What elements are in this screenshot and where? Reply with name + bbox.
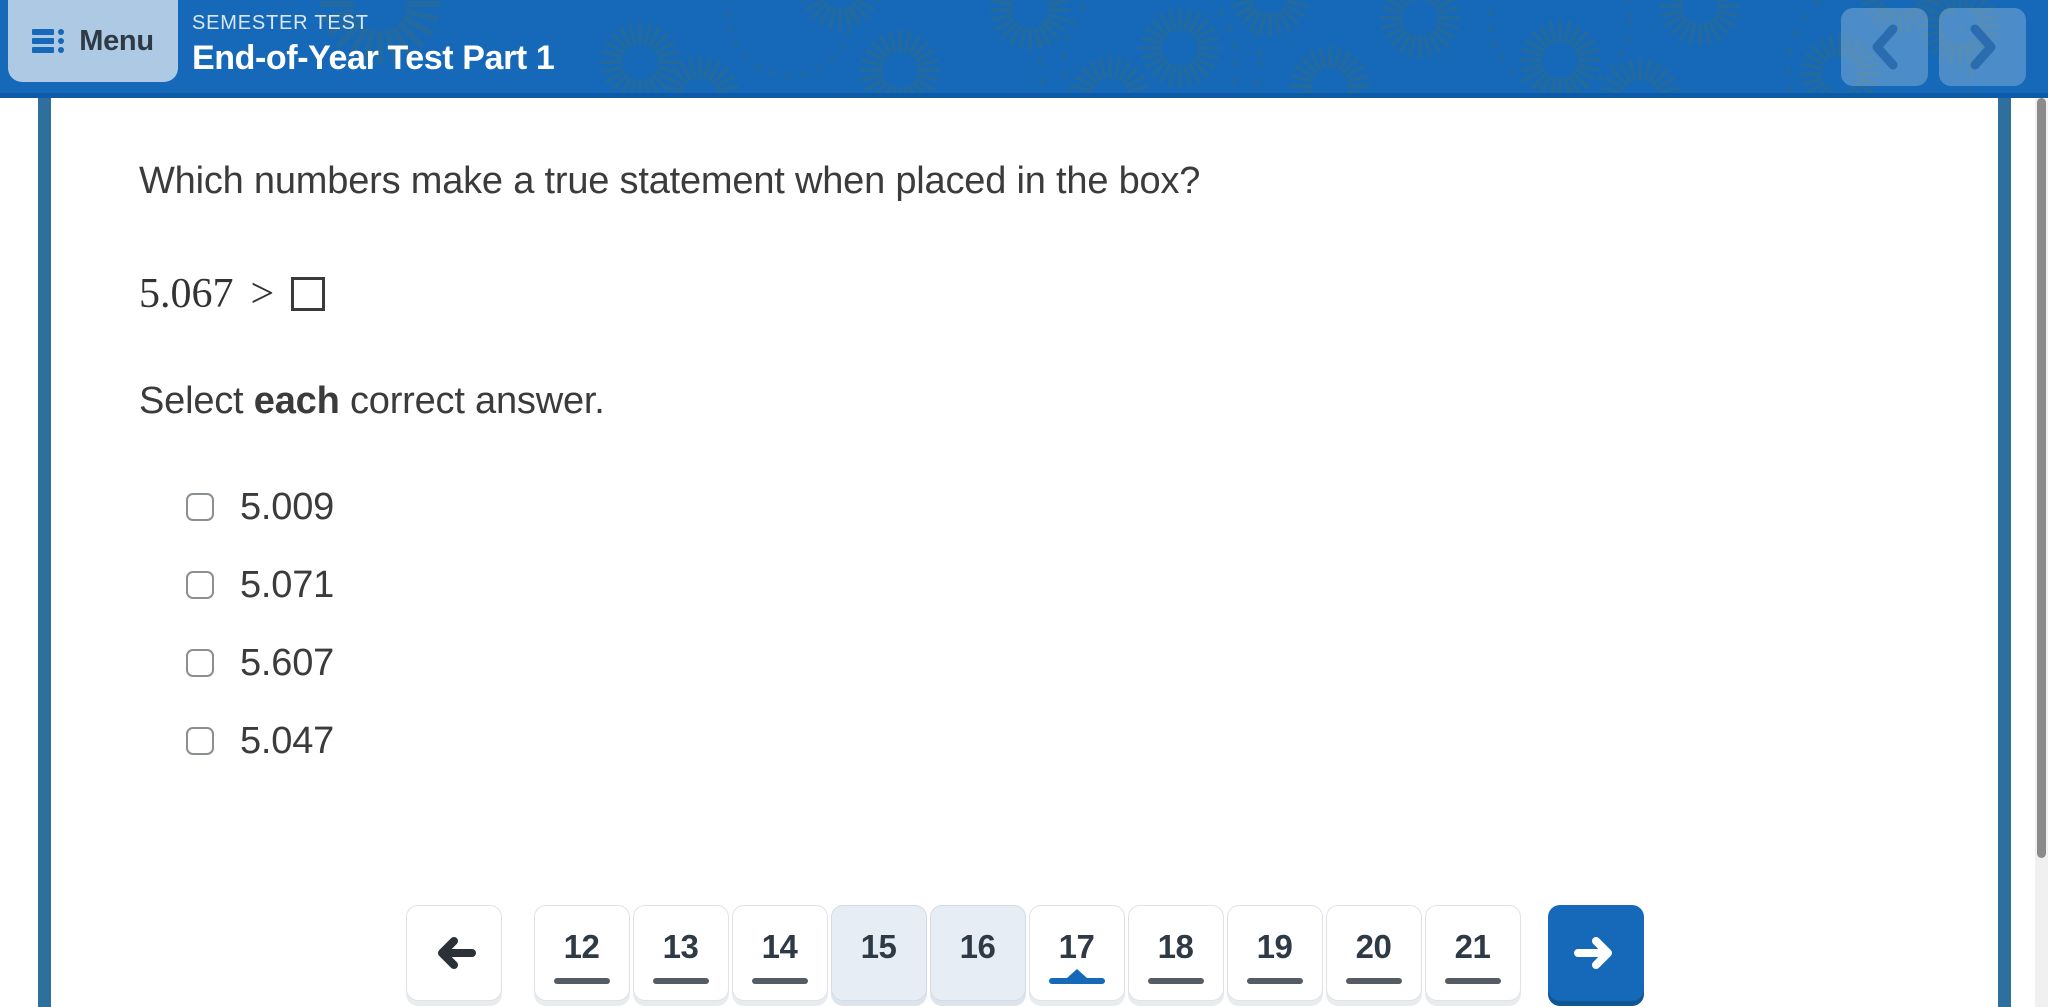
app-header: Menu SEMESTER TEST End-of-Year Test Part… (0, 0, 2048, 98)
answer-option-3[interactable]: 5.607 (139, 624, 1039, 702)
answered-page-indicator (554, 978, 610, 984)
right-edge-strip (1998, 98, 2011, 1007)
answer-option-4[interactable]: 5.047 (139, 702, 1039, 780)
answer-placeholder-box (291, 277, 325, 311)
page-number-list: 12131415161718192021 (534, 905, 1521, 1001)
page-button-label: 18 (1158, 928, 1194, 966)
page-scrollbar[interactable] (2035, 98, 2048, 1007)
pagination-previous-button[interactable] (406, 905, 502, 1001)
math-expression: 5.067 > (139, 270, 325, 318)
answer-option-label: 5.607 (240, 642, 334, 685)
answered-page-indicator (752, 978, 808, 984)
answered-page-indicator (1346, 978, 1402, 984)
chevron-right-icon (1966, 24, 2000, 70)
selection-instruction: Select each correct answer. (139, 380, 605, 423)
test-title-block: SEMESTER TEST End-of-Year Test Part 1 (192, 10, 554, 80)
checkbox-icon[interactable] (186, 493, 214, 521)
pagination-next-button[interactable] (1548, 905, 1644, 1001)
checkbox-icon[interactable] (186, 727, 214, 755)
left-edge-strip (38, 98, 51, 1007)
page-button-label: 21 (1455, 928, 1491, 966)
arrow-right-icon (1574, 933, 1618, 973)
page-button-18[interactable]: 18 (1128, 905, 1224, 1001)
page-button-label: 13 (663, 928, 699, 966)
menu-button-label: Menu (79, 25, 154, 58)
question-content-area: Which numbers make a true statement when… (51, 98, 1998, 1007)
answered-page-indicator (653, 978, 709, 984)
test-title: End-of-Year Test Part 1 (192, 36, 554, 80)
answered-page-indicator (1247, 978, 1303, 984)
answer-option-label: 5.047 (240, 720, 334, 763)
page-button-16[interactable]: 16 (930, 905, 1026, 1001)
arrow-left-icon (432, 933, 476, 973)
chevron-left-icon (1868, 24, 1902, 70)
page-button-label: 14 (762, 928, 798, 966)
header-next-button[interactable] (1939, 8, 2026, 86)
answer-options-list: 5.009 5.071 5.607 5.047 (139, 468, 1039, 780)
page-button-19[interactable]: 19 (1227, 905, 1323, 1001)
page-button-label: 19 (1257, 928, 1293, 966)
current-page-pointer-icon (1067, 969, 1087, 978)
test-category-label: SEMESTER TEST (192, 10, 554, 36)
page-button-13[interactable]: 13 (633, 905, 729, 1001)
instruction-emphasis: each (254, 380, 340, 422)
header-navigation-arrows (1841, 8, 2026, 86)
answered-page-indicator (1445, 978, 1501, 984)
question-pagination-bar: 12131415161718192021 (51, 887, 1998, 1007)
menu-button[interactable]: Menu (8, 0, 178, 82)
expression-left-operand: 5.067 (139, 270, 234, 318)
header-bottom-border (0, 93, 2048, 98)
page-button-17[interactable]: 17 (1029, 905, 1125, 1001)
scrollbar-thumb[interactable] (2037, 98, 2046, 858)
page-button-label: 12 (564, 928, 600, 966)
checkbox-icon[interactable] (186, 649, 214, 677)
page-button-12[interactable]: 12 (534, 905, 630, 1001)
answer-option-1[interactable]: 5.009 (139, 468, 1039, 546)
page-button-14[interactable]: 14 (732, 905, 828, 1001)
page-button-15[interactable]: 15 (831, 905, 927, 1001)
answer-option-label: 5.009 (240, 486, 334, 529)
page-button-21[interactable]: 21 (1425, 905, 1521, 1001)
question-stem: Which numbers make a true statement when… (139, 160, 1200, 203)
answer-option-2[interactable]: 5.071 (139, 546, 1039, 624)
answered-page-indicator (1148, 978, 1204, 984)
current-page-indicator (1049, 978, 1105, 984)
answer-option-label: 5.071 (240, 564, 334, 607)
page-button-label: 15 (861, 928, 897, 966)
expression-operator: > (251, 270, 275, 318)
instruction-suffix: correct answer. (340, 380, 605, 422)
page-button-label: 17 (1059, 928, 1095, 966)
header-previous-button[interactable] (1841, 8, 1928, 86)
test-player-screen: Menu SEMESTER TEST End-of-Year Test Part… (0, 0, 2048, 1007)
page-button-label: 20 (1356, 928, 1392, 966)
page-button-20[interactable]: 20 (1326, 905, 1422, 1001)
page-button-label: 16 (960, 928, 996, 966)
hamburger-list-icon (32, 27, 66, 55)
checkbox-icon[interactable] (186, 571, 214, 599)
instruction-prefix: Select (139, 380, 254, 422)
